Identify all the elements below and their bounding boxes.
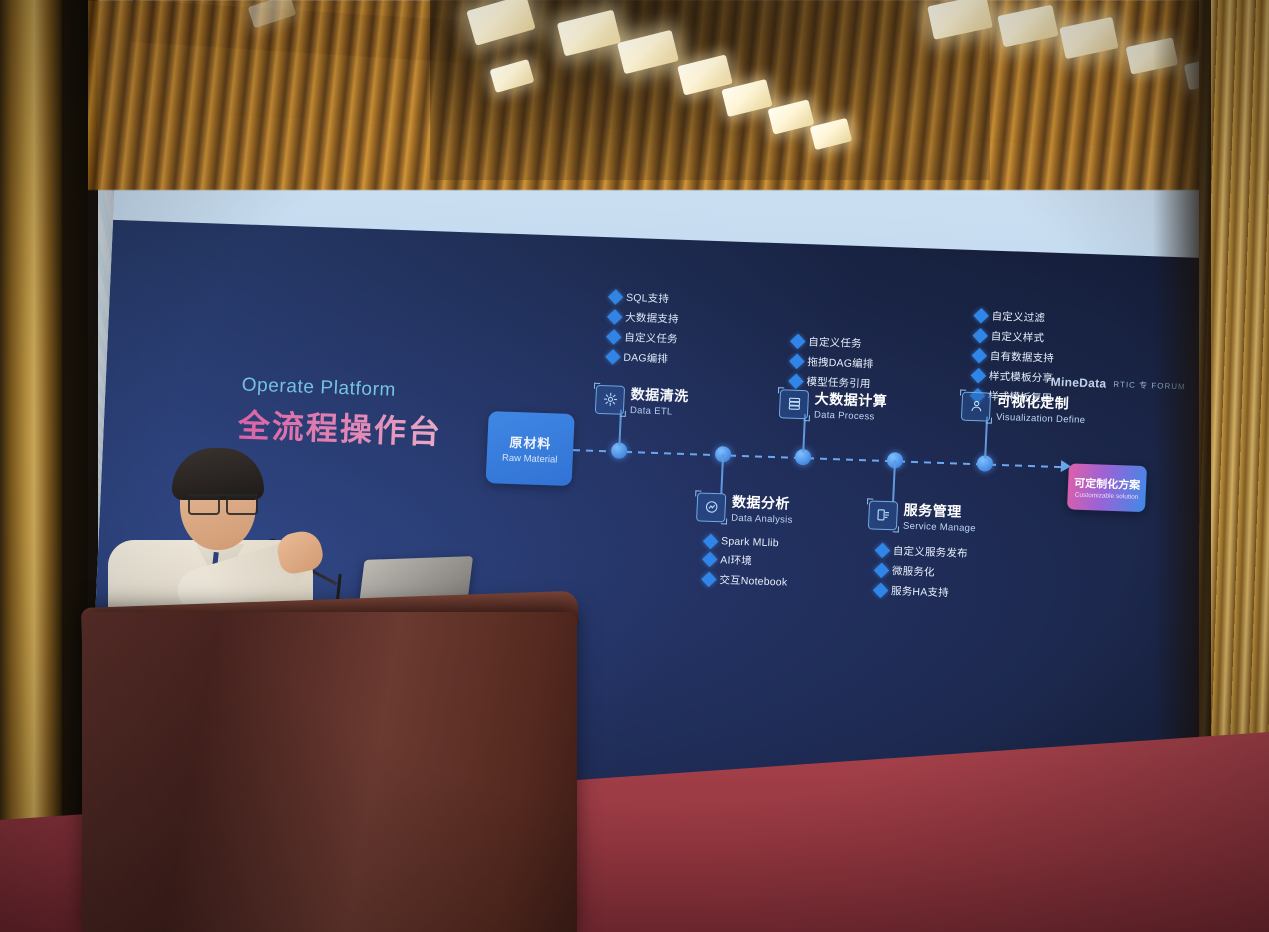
diamond-bullet-icon — [703, 533, 719, 549]
diamond-bullet-icon — [790, 334, 806, 350]
feature-item: 自定义任务 — [792, 334, 875, 352]
feature-label: 自定义任务 — [624, 330, 678, 347]
feature-label: 自定义任务 — [808, 334, 862, 351]
feature-label: SQL支持 — [626, 290, 670, 306]
diamond-bullet-icon — [971, 368, 987, 384]
timeline-stem — [802, 414, 805, 452]
stage-node-data-etl: 数据清洗 Data ETL — [595, 383, 689, 418]
feature-list-service-manage: 自定义服务发布 微服务化 服务HA支持 — [875, 543, 969, 606]
stage-label-en: Service Manage — [903, 521, 976, 535]
stage-node-data-process: 大数据计算 Data Process — [779, 387, 888, 423]
diamond-bullet-icon — [607, 309, 623, 325]
feature-item: 样式模板分享 — [973, 368, 1054, 386]
customizable-solution-cn: 可定制化方案 — [1074, 475, 1141, 493]
feature-label: DAG编排 — [623, 350, 668, 367]
timeline-stem — [892, 460, 895, 502]
gold-pillar-left — [0, 0, 62, 932]
feature-label: AI环境 — [720, 552, 752, 568]
timeline-stem — [720, 454, 723, 494]
stage-label-en: Data Analysis — [731, 513, 793, 526]
operate-platform-cn: 全流程操作台 — [237, 400, 443, 453]
feature-label: 拖拽DAG编排 — [807, 354, 874, 371]
service-icon — [868, 500, 898, 530]
diamond-bullet-icon — [972, 348, 988, 364]
wooden-podium: 南京理工 — [82, 612, 577, 932]
customizable-solution-en: Customizable solution — [1075, 492, 1139, 501]
feature-list-data-etl: SQL支持 大数据支持 自定义任务 DAG编排 — [607, 289, 680, 371]
feature-item: 样式模板复用 — [972, 388, 1053, 406]
feature-item: 大数据支持 — [609, 309, 679, 326]
diamond-bullet-icon — [973, 308, 989, 324]
timeline-node — [715, 446, 732, 463]
timeline-node — [795, 449, 812, 466]
glasses-icon — [188, 494, 258, 511]
feature-label: Spark MLlib — [721, 535, 779, 549]
feature-label: 样式模板复用 — [988, 389, 1053, 406]
feature-label: 交互Notebook — [719, 572, 788, 589]
stage-label-en: Data Process — [814, 409, 887, 423]
raw-material-cn: 原材料 — [509, 432, 552, 452]
feature-item: Spark MLlib — [705, 535, 789, 550]
customizable-solution-box: 可定制化方案 Customizable solution — [1067, 463, 1147, 512]
process-icon — [779, 389, 809, 419]
timeline-arrow-icon — [1061, 460, 1072, 472]
diamond-bullet-icon — [605, 349, 621, 365]
feature-label: 自定义过滤 — [991, 309, 1045, 326]
pipeline-timeline — [573, 449, 1065, 468]
feature-item: 服务HA支持 — [875, 583, 967, 601]
feature-item: 自定义服务发布 — [877, 543, 969, 561]
feature-label: 模型任务引用 — [806, 374, 871, 391]
timeline-node — [977, 455, 994, 472]
feature-item: 交互Notebook — [703, 572, 788, 590]
stage-node-data-analysis: 数据分析 Data Analysis — [696, 490, 794, 525]
stage-label-cn: 大数据计算 — [814, 388, 887, 411]
feature-item: 模型任务引用 — [790, 374, 873, 392]
operate-platform-en: Operate Platform — [241, 374, 396, 401]
diamond-bullet-icon — [789, 354, 805, 370]
feature-label: 自定义样式 — [990, 329, 1044, 346]
timeline-node — [611, 442, 628, 459]
stage-label-en: Data ETL — [630, 405, 688, 418]
diamond-bullet-icon — [873, 583, 889, 599]
feature-item: 自定义样式 — [974, 328, 1055, 346]
raw-material-en: Raw Material — [502, 453, 558, 466]
diamond-bullet-icon — [970, 388, 986, 404]
presenter-hand — [274, 528, 325, 576]
feature-label: 自有数据支持 — [989, 349, 1054, 366]
minedata-wordmark: MineData — [1050, 375, 1106, 391]
feature-label: 大数据支持 — [625, 310, 679, 327]
visualization-icon — [961, 391, 991, 421]
feature-item: DAG编排 — [607, 349, 677, 366]
etl-icon — [595, 384, 625, 414]
diamond-bullet-icon — [606, 329, 622, 345]
analysis-icon — [696, 492, 726, 522]
feature-item: 自定义过滤 — [975, 308, 1056, 326]
stage-label-cn: 可视化定制 — [996, 391, 1086, 414]
stage-label-cn: 服务管理 — [903, 500, 977, 523]
diamond-bullet-icon — [874, 563, 890, 579]
diamond-bullet-icon — [702, 552, 718, 568]
feature-list-data-analysis: Spark MLlib AI环境 交互Notebook — [703, 535, 789, 595]
stage-label-en: Visualization Define — [996, 412, 1086, 426]
diamond-bullet-icon — [701, 572, 717, 588]
feature-item: 自定义任务 — [608, 329, 678, 346]
feature-item: 拖拽DAG编排 — [791, 354, 874, 372]
raw-material-box: 原材料 Raw Material — [486, 411, 575, 486]
stage-node-service-manage: 服务管理 Service Manage — [868, 498, 977, 534]
stage-label-cn: 数据清洗 — [630, 384, 689, 406]
feature-list-visualization-define: 自定义过滤 自定义样式 自有数据支持 样式模板分享 样式模板复用 — [971, 308, 1056, 411]
feature-label: 样式模板分享 — [989, 369, 1054, 386]
diamond-bullet-icon — [608, 289, 624, 305]
conference-photo-scene: MineData3.0实现大数据平台的可运营化 Operate Platform… — [0, 0, 1269, 932]
timeline-node — [887, 452, 904, 469]
presenter-hair — [172, 448, 264, 500]
feature-label: 自定义服务发布 — [893, 543, 969, 561]
feature-list-data-process: 自定义任务 拖拽DAG编排 模型任务引用 — [790, 334, 875, 397]
feature-label: 微服务化 — [892, 563, 935, 579]
timeline-stem — [984, 416, 987, 458]
feature-label: 服务HA支持 — [891, 583, 949, 600]
diamond-bullet-icon — [788, 374, 804, 390]
stage-node-visualization-define: 可视化定制 Visualization Define — [961, 390, 1087, 426]
feature-item: SQL支持 — [610, 289, 680, 306]
feature-item: 自有数据支持 — [973, 348, 1054, 366]
feature-item: AI环境 — [704, 552, 789, 570]
timeline-stem — [618, 410, 621, 446]
diamond-bullet-icon — [875, 543, 891, 559]
diamond-bullet-icon — [972, 328, 988, 344]
stage-label-cn: 数据分析 — [732, 492, 794, 514]
feature-item: 微服务化 — [876, 563, 968, 581]
